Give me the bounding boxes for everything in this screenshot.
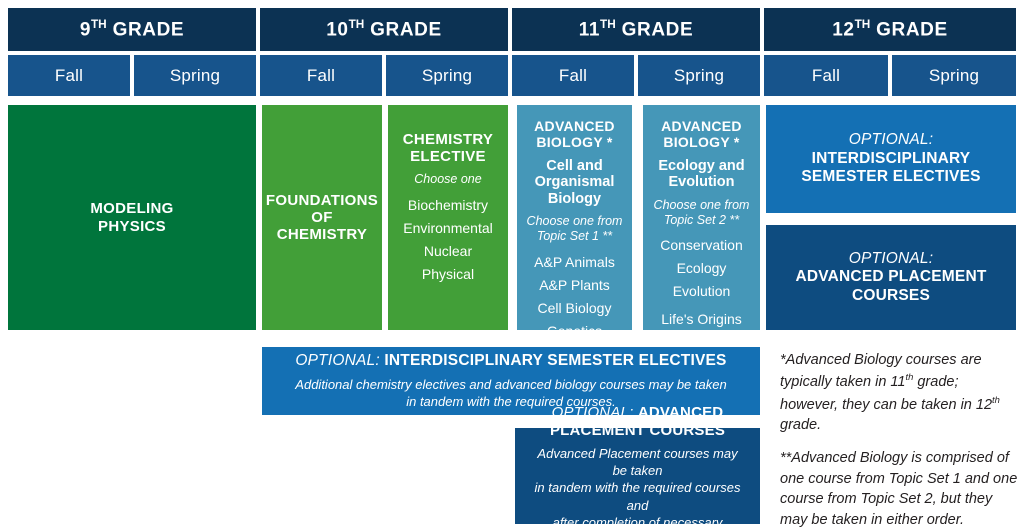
course-subtitle: Cell and Organismal Biology	[523, 158, 626, 208]
banner-advanced-placement[interactable]: OPTIONAL: ADVANCED PLACEMENT COURSES Adv…	[515, 428, 760, 524]
course-foundations-of-chemistry[interactable]: FOUNDATIONS OF CHEMISTRY	[262, 105, 382, 330]
footnotes: *Advanced Biology courses are typically …	[780, 350, 1018, 530]
term-header-9-spring: Spring	[134, 55, 256, 96]
term-label: Spring	[170, 66, 220, 86]
course-option[interactable]: A&P Plants	[523, 274, 626, 297]
course-option[interactable]: Ecology	[649, 257, 754, 280]
optional-label: OPTIONAL:	[849, 131, 933, 148]
grade-suffix: TH	[349, 18, 365, 31]
term-header-10-spring: Spring	[386, 55, 508, 96]
grade-number: 9	[80, 19, 91, 40]
course-grade12-interdisciplinary-electives[interactable]: OPTIONAL: INTERDISCIPLINARY SEMESTER ELE…	[766, 105, 1016, 213]
course-subtitle: Ecology and Evolution	[658, 158, 744, 191]
footnote-single-asterisk: *Advanced Biology courses are typically …	[780, 350, 1018, 435]
term-label: Spring	[929, 66, 979, 86]
grade-header-11: 11TH GRADE	[512, 8, 760, 51]
optional-label: OPTIONAL:	[552, 404, 634, 421]
term-label: Spring	[674, 66, 724, 86]
term-header-11-fall: Fall	[512, 55, 634, 96]
course-title: OPTIONAL: ADVANCED PLACEMENT COURSES	[795, 250, 986, 306]
term-label: Fall	[559, 66, 587, 86]
course-option[interactable]: Cell Biology	[523, 297, 626, 320]
optional-label: OPTIONAL:	[849, 250, 933, 267]
term-header-12-spring: Spring	[892, 55, 1016, 96]
course-chemistry-elective[interactable]: CHEMISTRY ELECTIVE Choose one Biochemist…	[388, 105, 508, 330]
choose-instruction: Choose one from Topic Set 1 **	[527, 214, 623, 244]
course-option[interactable]: Nuclear	[394, 240, 502, 263]
grade-suffix: TH	[855, 18, 871, 31]
course-title: OPTIONAL: INTERDISCIPLINARY SEMESTER ELE…	[801, 131, 980, 187]
course-option[interactable]: A&P Animals	[523, 251, 626, 274]
footnote-double-asterisk: **Advanced Biology is comprised of one c…	[780, 448, 1018, 530]
course-title: MODELING PHYSICS	[90, 200, 173, 234]
term-header-9-fall: Fall	[8, 55, 130, 96]
grade-header-10: 10TH GRADE	[260, 8, 508, 51]
term-label: Fall	[307, 66, 335, 86]
term-header-12-fall: Fall	[764, 55, 888, 96]
grade-number: 11	[579, 19, 600, 40]
course-advanced-biology-fall[interactable]: ADVANCED BIOLOGY * Cell and Organismal B…	[517, 105, 632, 330]
banner-title: OPTIONAL: INTERDISCIPLINARY SEMESTER ELE…	[295, 352, 726, 371]
course-pathway-diagram: 9TH GRADE 10TH GRADE 11TH GRADE 12TH GRA…	[0, 0, 1024, 532]
grade-number: 10	[326, 19, 348, 40]
grade-word: GRADE	[113, 19, 185, 40]
course-title: ADVANCED BIOLOGY *	[661, 119, 742, 151]
course-option[interactable]: Conservation	[649, 234, 754, 257]
course-grade12-advanced-placement[interactable]: OPTIONAL: ADVANCED PLACEMENT COURSES	[766, 225, 1016, 330]
course-option-list: A&P Animals A&P Plants Cell Biology Gene…	[523, 251, 626, 343]
choose-instruction: Choose one from Topic Set 2 **	[654, 198, 750, 228]
choose-instruction: Choose one	[414, 172, 481, 187]
banner-heading: INTERDISCIPLINARY SEMESTER ELECTIVES	[384, 352, 726, 369]
course-title: CHEMISTRY ELECTIVE	[403, 131, 493, 165]
course-title: FOUNDATIONS OF CHEMISTRY	[266, 192, 378, 243]
grade-suffix: TH	[91, 18, 107, 31]
course-option[interactable]: Genetics	[523, 320, 626, 343]
course-option-list: Conservation Ecology Evolution Life's Or…	[649, 234, 754, 354]
term-header-11-spring: Spring	[638, 55, 760, 96]
course-option[interactable]: Environmental	[394, 217, 502, 240]
grade-number: 12	[832, 19, 854, 40]
term-label: Fall	[55, 66, 83, 86]
course-title: ADVANCED BIOLOGY *	[534, 119, 615, 151]
course-option[interactable]: Biochemistry	[394, 194, 502, 217]
course-modeling-physics[interactable]: MODELING PHYSICS	[8, 105, 256, 330]
term-label: Fall	[812, 66, 840, 86]
course-advanced-biology-spring[interactable]: ADVANCED BIOLOGY * Ecology and Evolution…	[643, 105, 760, 330]
course-option[interactable]: Physical	[394, 263, 502, 286]
footnote-marker: **	[780, 450, 791, 466]
term-header-10-fall: Fall	[260, 55, 382, 96]
grade-suffix: TH	[600, 18, 616, 31]
banner-body: Advanced Placement courses may be taken …	[529, 445, 746, 532]
course-option[interactable]: Evolution	[649, 280, 754, 303]
grade-header-9: 9TH GRADE	[8, 8, 256, 51]
grade-word: GRADE	[876, 19, 948, 40]
banner-title: OPTIONAL: ADVANCED PLACEMENT COURSES	[550, 404, 725, 440]
grade-header-12: 12TH GRADE	[764, 8, 1016, 51]
term-label: Spring	[422, 66, 472, 86]
course-option-list: Biochemistry Environmental Nuclear Physi…	[394, 194, 502, 286]
optional-label: OPTIONAL:	[295, 352, 379, 369]
grade-word: GRADE	[370, 19, 442, 40]
grade-word: GRADE	[622, 19, 694, 40]
